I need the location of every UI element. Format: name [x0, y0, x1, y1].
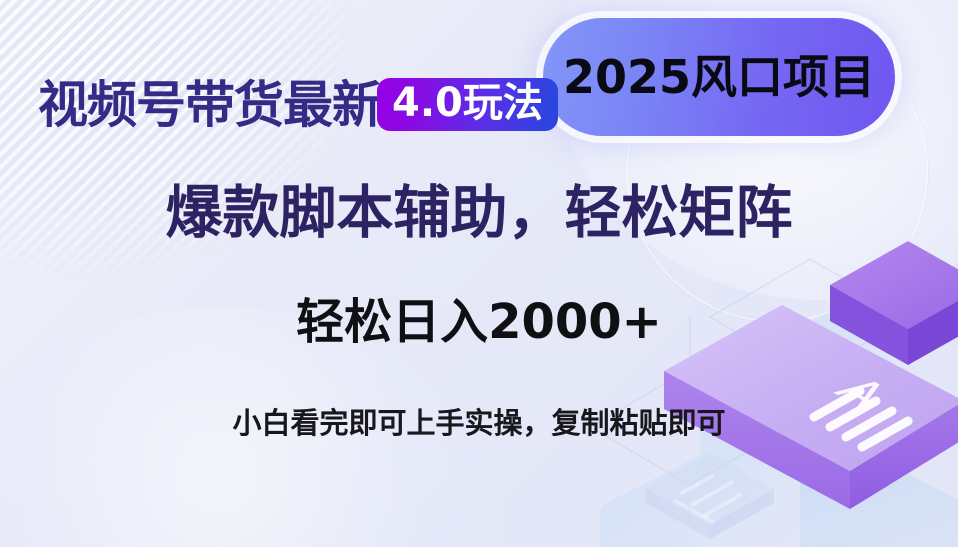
headline-line-2: 爆款脚本辅助，轻松矩阵: [0, 182, 958, 245]
iso-slab-lower: [600, 374, 860, 547]
badge-2025-pill: 2025风口项目: [543, 18, 895, 136]
badge-version-4-0: 4.0玩法: [377, 78, 558, 131]
isometric-document-card-icon: A: [658, 237, 958, 517]
headline-line-1-text: 视频号带货最新: [38, 80, 381, 130]
headline-line-3: 轻松日入2000+: [0, 296, 958, 349]
diagonal-stripes-decoration: [0, 0, 380, 300]
badge-2025-label: 2025风口项目: [563, 54, 875, 100]
subheadline: 小白看完即可上手实操，复制粘贴即可: [0, 406, 958, 441]
headline-line-1: 视频号带货最新 4.0玩法: [38, 78, 558, 131]
promo-poster: A 2025风口项目 视频号带货最新 4.0玩法 爆款脚本辅助，轻松矩阵 轻松日…: [0, 0, 958, 547]
